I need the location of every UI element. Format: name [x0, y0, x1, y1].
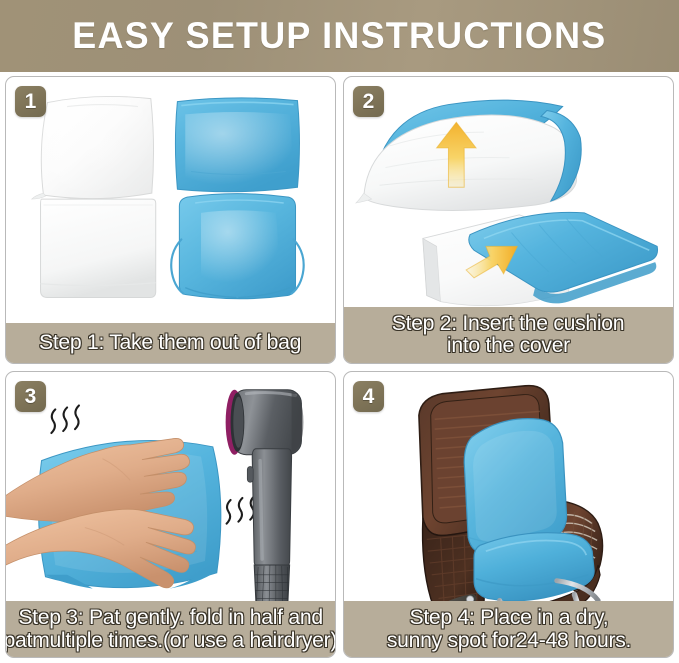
white-pillow-in-blue-cover: [356, 100, 581, 210]
white-cushion-into-blue-cover: [423, 212, 658, 305]
blue-pillow-cover: [175, 98, 299, 192]
step-badge-2: 2: [353, 86, 384, 117]
step-number: 3: [25, 386, 37, 407]
step-number: 4: [363, 386, 375, 407]
heat-squiggle-right: [227, 496, 255, 524]
step-badge-1: 1: [15, 86, 46, 117]
step-number: 2: [363, 91, 375, 112]
caption-line: Step 3: Pat gently. fold in half and: [18, 606, 323, 628]
page-header: EASY SETUP INSTRUCTIONS: [0, 0, 679, 72]
step-panel-2: 2 Step 2: Insert the cushion into the co…: [343, 76, 674, 364]
caption-line: Step 1: Take them out of bag: [39, 331, 301, 353]
step-panel-3: 3 Step 3: Pat gently. fold in half and p…: [5, 371, 336, 659]
caption-line: into the cover: [447, 334, 570, 356]
caption-line: Step 2: Insert the cushion: [392, 312, 624, 334]
caption-line: sunny spot for24-48 hours.: [386, 629, 630, 651]
step-3-caption: Step 3: Pat gently. fold in half and pat…: [6, 601, 335, 657]
white-cushion-pad: [41, 199, 156, 297]
page-title: EASY SETUP INSTRUCTIONS: [72, 15, 606, 57]
step-number: 1: [25, 91, 37, 112]
step-2-caption: Step 2: Insert the cushion into the cove…: [344, 307, 673, 363]
step-1-caption: Step 1: Take them out of bag: [6, 323, 335, 363]
step-panel-4: 4 Step 4: Place in a dry, sunny spot for…: [343, 371, 674, 659]
steps-grid: 1 Step 1: Take them out of bag: [0, 72, 679, 663]
caption-line: patmultiple times.(or use a hairdryer): [5, 629, 336, 651]
step-1-illustration: [6, 77, 335, 363]
blue-drawstring-bag: [171, 194, 303, 299]
step-panel-1: 1 Step 1: Take them out of bag: [5, 76, 336, 364]
step-badge-3: 3: [15, 381, 46, 412]
step-badge-4: 4: [353, 381, 384, 412]
step-4-caption: Step 4: Place in a dry, sunny spot for24…: [344, 601, 673, 657]
heat-squiggle-left: [51, 405, 79, 433]
white-pillow-insert: [32, 96, 154, 199]
step-1-artwork: [6, 77, 335, 363]
caption-line: Step 4: Place in a dry,: [409, 606, 608, 628]
